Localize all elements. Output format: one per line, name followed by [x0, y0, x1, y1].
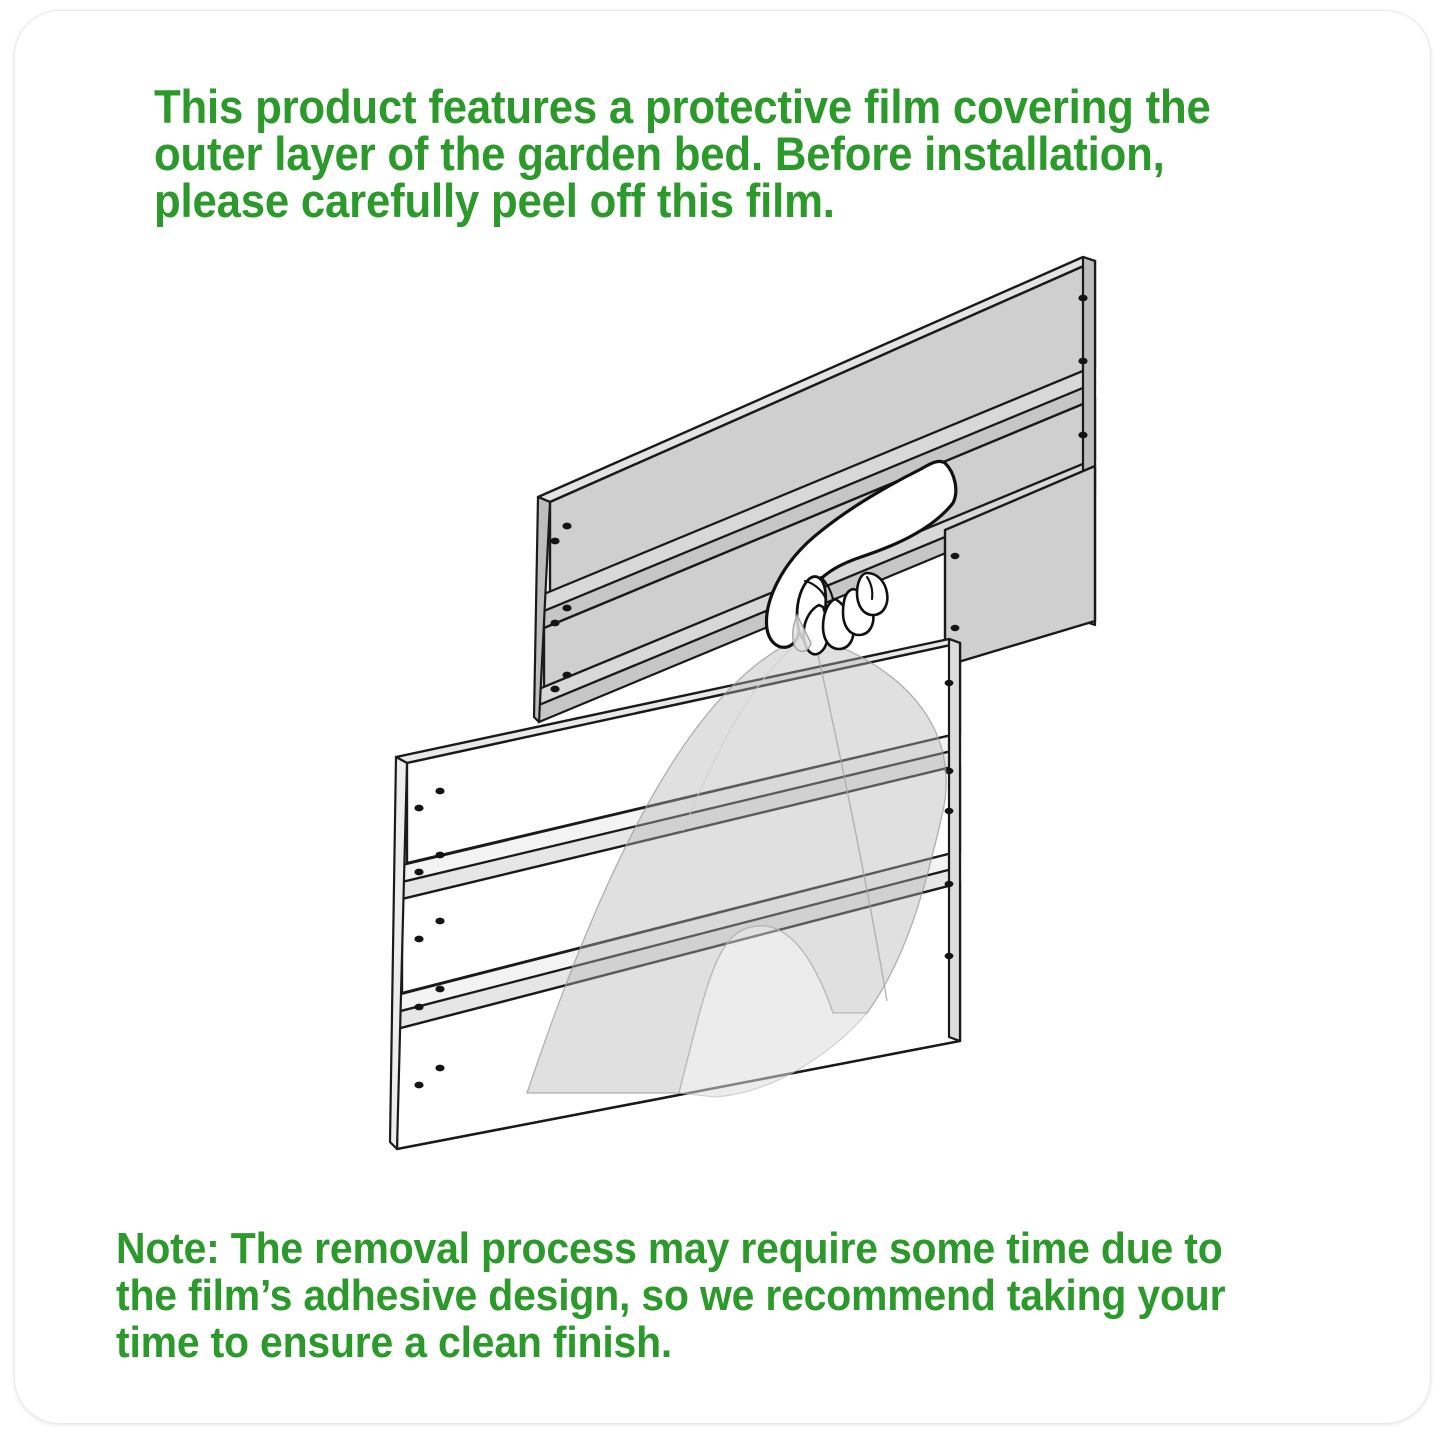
lower-panel-right-edge: [949, 639, 960, 1041]
upper-panel-face-2: [544, 399, 1095, 687]
protective-film: [527, 636, 946, 1097]
right-panel-screw-holes: [951, 553, 960, 631]
protective-film-sheet: [527, 636, 946, 1093]
protective-film-highlight: [683, 639, 803, 831]
hand-index-finger: [804, 605, 828, 654]
lower-panel-face-1: [407, 643, 960, 863]
lower-panel-screw-holes-right: [945, 680, 954, 959]
lower-panel-bottom-edge: [397, 1041, 960, 1149]
lower-panel-rib-1: [402, 733, 960, 899]
protective-film-curl: [679, 926, 867, 1097]
lower-panel-rib-2: [397, 851, 960, 1029]
upper-panel-left-edge: [534, 497, 550, 722]
protective-film-crease: [815, 641, 887, 1001]
upper-panel-rib-2: [539, 459, 1095, 722]
lower-panel-screw-holes-left: [414, 788, 444, 1089]
hand-thumb: [797, 577, 826, 645]
upper-rear-panel-group: [534, 257, 1095, 722]
upper-panel-rib-1: [544, 366, 1095, 628]
instruction-card: This product features a protective film …: [14, 10, 1431, 1424]
hand-forearm: [766, 461, 955, 647]
hand-pinched-film-tip: [793, 615, 811, 651]
lower-panel-face-3: [397, 883, 960, 1149]
upper-panel-screw-holes-right: [1078, 295, 1087, 606]
upper-panel-face-1: [550, 261, 1095, 592]
top-instruction-text: This product features a protective film …: [154, 83, 1247, 224]
lower-panel-top-lip: [396, 639, 960, 763]
bottom-note-text: Note: The removal process may require so…: [116, 1225, 1288, 1366]
lower-front-panel-group: [390, 639, 960, 1149]
lower-panel-face-2: [402, 765, 960, 993]
right-panel-face-1: [945, 466, 1095, 666]
upper-panel-top-lip: [538, 257, 1095, 502]
lower-panel-left-edge: [390, 757, 407, 1149]
hand: [766, 461, 955, 654]
illustration-content: [390, 257, 1095, 1149]
hand-crease-lines: [805, 577, 872, 599]
upper-panel-screw-holes-left: [550, 523, 571, 693]
hand-middle-finger: [823, 599, 853, 649]
hand-ring-finger: [843, 589, 873, 635]
hand-little-finger: [857, 573, 887, 615]
upper-panel-right-edge: [1083, 257, 1095, 625]
right-end-panel-group: [945, 466, 1095, 666]
